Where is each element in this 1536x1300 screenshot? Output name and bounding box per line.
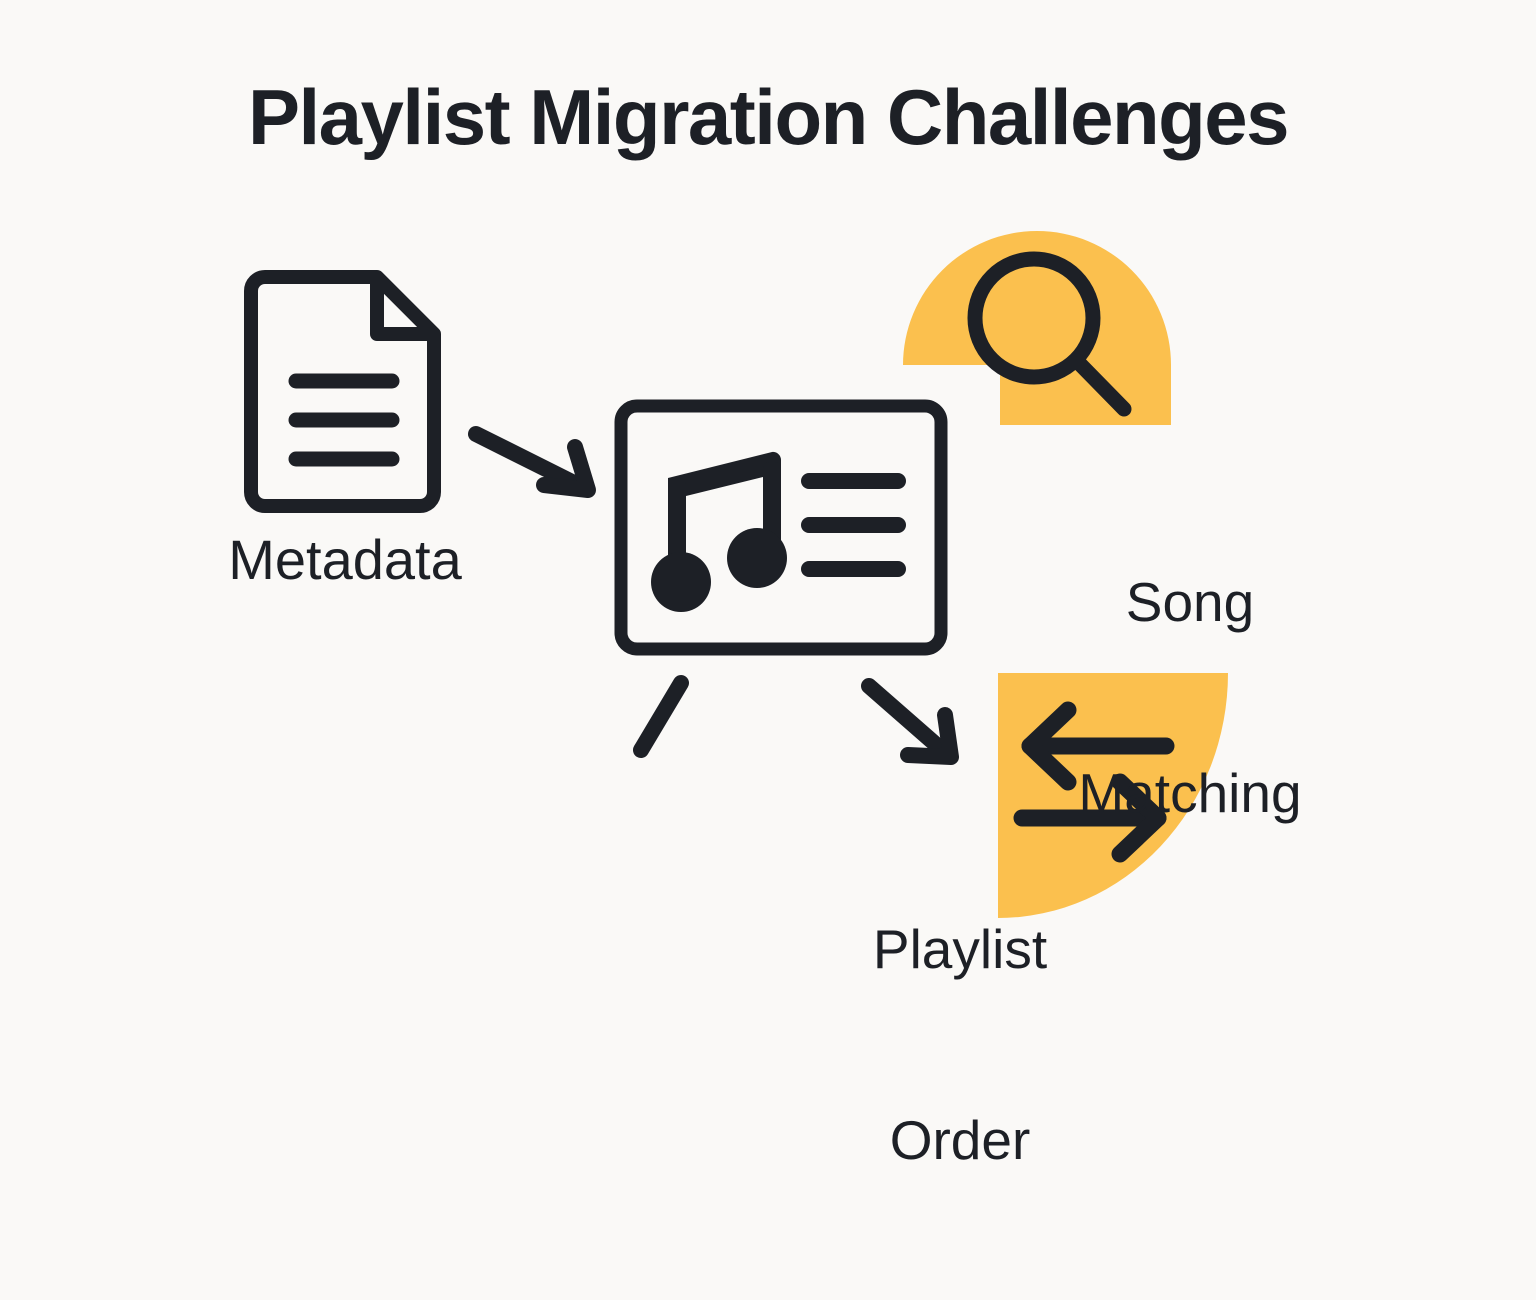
music-playlist-card-icon: [621, 406, 941, 649]
connector-card-to-playlist-order: [869, 686, 951, 757]
label-metadata: Metadata: [120, 528, 570, 593]
connector-metadata-to-card: [476, 434, 588, 490]
connector-card-lower-left: [641, 683, 681, 750]
label-playlist-order: Playlist Order: [690, 790, 1230, 1300]
diagram-canvas: Playlist Migration Challenges: [0, 0, 1536, 1024]
label-playlist-order-line1: Playlist: [690, 918, 1230, 982]
label-playlist-order-line2: Order: [690, 1109, 1230, 1173]
document-icon: [251, 277, 434, 506]
label-song-matching-line1: Song: [1000, 571, 1380, 635]
